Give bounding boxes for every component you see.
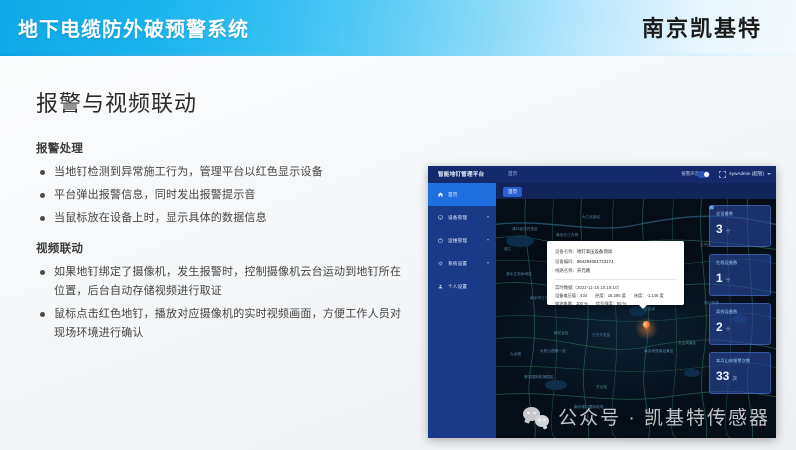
popup-field-value: 开元路: [577, 268, 590, 273]
gear-icon: [438, 261, 443, 266]
bullet-list-video: 如果地钉绑定了摄像机，发生报警时，控制摄像机云台运动到地钉所在位置，后台自动存储…: [36, 263, 406, 343]
popup-field-key: 设备编码：: [555, 259, 577, 264]
popup-field-row: 设备编码：86429405172317J: [555, 257, 676, 267]
popup-metric: 经度：15.295 度: [595, 292, 626, 301]
chevron-down-icon: [487, 216, 489, 218]
map-label: 方山风景区: [678, 341, 696, 346]
watermark: 公众号 · 凯基特传感器: [523, 403, 770, 430]
device-icon: [438, 215, 443, 220]
popup-pointer: [639, 305, 647, 309]
map-label: 滨水生态休闲区: [506, 272, 532, 277]
stat-card-unit: 次: [732, 376, 737, 381]
popup-metric-key: 经度：: [595, 293, 608, 298]
stat-card-value: 2: [716, 320, 723, 334]
device-map-marker[interactable]: [642, 321, 651, 333]
stat-card-online-devices[interactable]: 在线设备数 1个: [709, 254, 771, 296]
popup-field-key: 设备名称：: [555, 249, 577, 254]
popup-metric: 纬度：-1.146 度: [634, 292, 664, 301]
device-info-popup: 设备名称：地钉高压设备测试 设备编码：86429405172317J 线路名称：…: [547, 241, 684, 305]
app-sidebar: 首页 设备管理 运维管理: [428, 183, 496, 438]
app-tabbar: 首页: [496, 183, 776, 199]
sidebar-item-label: 首页: [448, 192, 458, 198]
stat-card-total-devices[interactable]: 总设备数 3个: [709, 205, 771, 247]
stat-card-label: 在线设备数: [716, 260, 737, 266]
list-item: 鼠标点击红色地钉，播放对应摄像机的实时视频画面，方便工作人员对现场环境进行确认: [36, 305, 406, 343]
stat-card-label: 本月山体报警次数: [716, 358, 750, 364]
stat-card-monthly-alarms[interactable]: 本月山体报警次数 33次: [709, 352, 771, 394]
map-label: 禄口国际机场园区: [524, 375, 554, 380]
map-label: 江宁开发区: [592, 333, 610, 338]
user-menu-label[interactable]: kywAdmin (超管): [730, 171, 764, 177]
map-label: 方山站: [596, 385, 607, 390]
popup-field-key: 线路名称：: [555, 268, 577, 273]
map-label: 九龙湖: [510, 352, 521, 357]
map-label: 大桥公园第一站: [540, 349, 566, 354]
popup-metric-value: 90 %: [617, 301, 627, 306]
popup-metric: 电池电量：100 %: [555, 300, 588, 309]
company-brand: 南京凯基特: [642, 11, 762, 43]
chevron-down-icon: [487, 239, 489, 241]
stat-card-unit: 个: [726, 229, 731, 234]
popup-metric-key: 电池电量：: [555, 301, 576, 306]
popup-field-row: 线路名称：开元路: [555, 266, 676, 276]
page-header-title: 地下电缆防外破预警系统: [18, 13, 249, 42]
stat-card-value-wrap: 3个: [716, 223, 764, 238]
map-label: 滨江: [504, 247, 511, 252]
stat-card-unit: 个: [726, 327, 731, 332]
user-icon: [438, 284, 443, 289]
alarm-sound-toggle[interactable]: [697, 171, 710, 178]
popup-metric-key: 纬度：: [634, 293, 647, 298]
stat-card-value: 1: [716, 271, 723, 285]
stat-card-unit: 个: [726, 278, 731, 283]
sidebar-item-device[interactable]: 设备管理: [428, 206, 496, 229]
map-label: 南京长江大桥: [556, 233, 578, 238]
sidebar-item-label: 系统设置: [448, 261, 467, 267]
popup-metric: 设备电压值：434: [555, 292, 587, 301]
tab-home[interactable]: 首页: [503, 187, 522, 197]
popup-divider: [555, 279, 676, 280]
stat-card-offline-devices[interactable]: 离线设备数 2个: [709, 303, 771, 345]
popup-metric: 信号强度：90 %: [596, 300, 627, 309]
watermark-text: 公众号 · 凯基特传感器: [558, 403, 770, 430]
content-column: 报警处理 当地钉检测到异常施工行为，管理平台以红色显示设备 平台弹出报警信息，同…: [36, 140, 406, 347]
breadcrumb: 首页: [508, 171, 517, 177]
list-item: 当鼠标放在设备上时，显示具体的数据信息: [36, 209, 406, 228]
chevron-down-icon[interactable]: [767, 173, 771, 175]
stat-card-label: 离线设备数: [716, 309, 737, 315]
stat-card-value-wrap: 33次: [716, 370, 764, 385]
embedded-app-screenshot: 智能地钉管理平台 首页 报警声音 kywAdmin (超管) 首页: [428, 166, 776, 438]
popup-field-value: 86429405172317J: [577, 259, 613, 264]
popup-metric-value: 15.295 度: [608, 293, 626, 298]
fullscreen-icon[interactable]: [719, 171, 726, 178]
popup-metric-key: 信号强度：: [596, 301, 617, 306]
popup-realtime-header: 实时数据（2022-11-15 10:19:10）: [555, 283, 676, 292]
section-heading-video: 视频联动: [36, 240, 406, 256]
popup-metric-value: -1.146 度: [646, 293, 663, 298]
map-label: 浦口经济开发区: [512, 227, 538, 232]
popup-metrics-row-1: 设备电压值：434 经度：15.295 度 纬度：-1.146 度: [555, 292, 676, 301]
section-heading-alarm: 报警处理: [36, 140, 406, 156]
slide-body: 报警与视频联动 报警处理 当地钉检测到异常施工行为，管理平台以红色显示设备 平台…: [0, 56, 796, 450]
alarm-icon: [709, 205, 714, 210]
map-label: 南京地铁南站景区: [644, 349, 674, 354]
maintenance-icon: [438, 238, 443, 243]
stat-card-value: 33: [716, 369, 729, 383]
home-icon: [438, 192, 443, 197]
sidebar-item-maintenance[interactable]: 运维管理: [428, 229, 496, 252]
sidebar-item-label: 个人设置: [448, 284, 467, 290]
popup-field-value: 地钉高压设备测试: [577, 249, 612, 254]
stat-card-label: 总设备数: [716, 211, 733, 217]
stat-card-value-wrap: 1个: [716, 272, 764, 287]
app-logo: 智能地钉管理平台: [438, 170, 484, 178]
map-label: 大江北新区: [582, 215, 600, 220]
sidebar-item-label: 设备管理: [448, 215, 467, 221]
popup-metric-value: 100 %: [576, 301, 588, 306]
slide-header: 地下电缆防外破预警系统 南京凯基特: [0, 0, 796, 56]
stat-card-value-wrap: 2个: [716, 321, 764, 336]
sidebar-item-profile[interactable]: 个人设置: [428, 275, 496, 298]
page-title: 报警与视频联动: [36, 86, 197, 118]
popup-field-row: 设备名称：地钉高压设备测试: [555, 247, 676, 257]
popup-metric-value: 434: [580, 293, 587, 298]
sidebar-item-home[interactable]: 首页: [428, 183, 496, 206]
list-item: 平台弹出报警信息，同时发出报警提示音: [36, 186, 406, 205]
wechat-icon: [523, 407, 549, 427]
popup-metric-key: 设备电压值：: [555, 293, 580, 298]
map-label: 雨花台区: [554, 331, 569, 336]
app-main: 首页: [496, 183, 776, 438]
popup-metrics-row-2: 电池电量：100 % 信号强度：90 %: [555, 300, 676, 309]
chevron-down-icon: [487, 262, 489, 264]
bullet-list-alarm: 当地钉检测到异常施工行为，管理平台以红色显示设备 平台弹出报警信息，同时发出报警…: [36, 163, 406, 228]
stat-card-list: 总设备数 3个 在线设备数 1个: [709, 205, 771, 401]
app-topbar: 智能地钉管理平台 首页 报警声音 kywAdmin (超管): [428, 166, 776, 183]
list-item: 当地钉检测到异常施工行为，管理平台以红色显示设备: [36, 163, 406, 182]
list-item: 如果地钉绑定了摄像机，发生报警时，控制摄像机云台运动到地钉所在位置，后台自动存储…: [36, 263, 406, 301]
sidebar-item-label: 运维管理: [448, 238, 467, 244]
sidebar-item-settings[interactable]: 系统设置: [428, 252, 496, 275]
stat-card-value: 3: [716, 222, 723, 236]
